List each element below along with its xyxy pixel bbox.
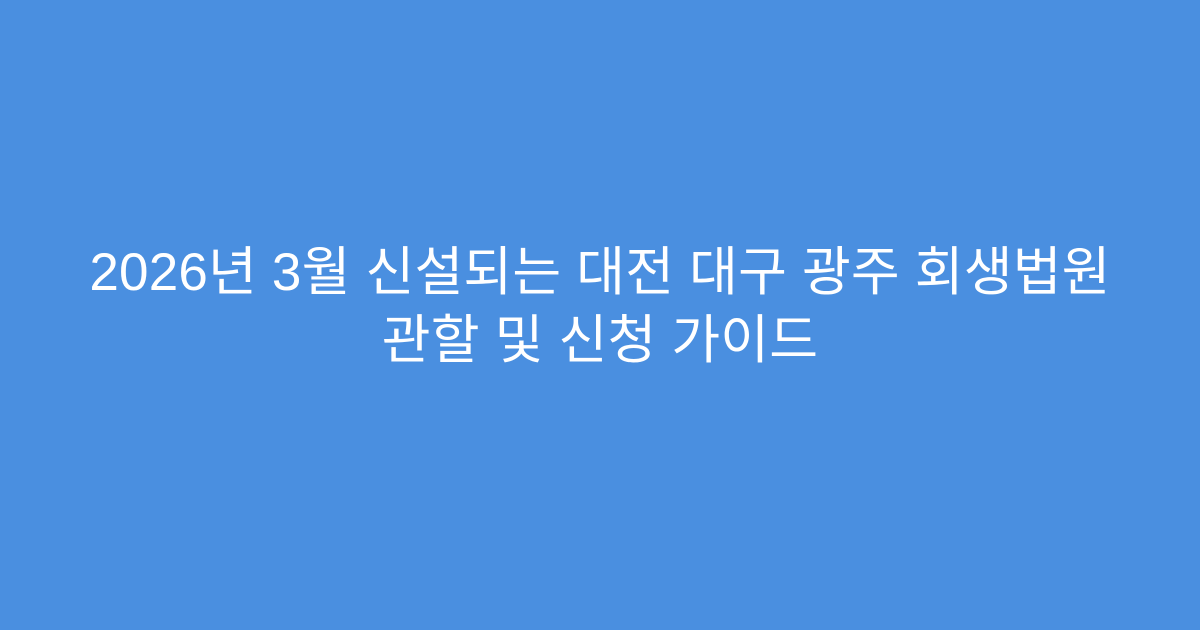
title-card-banner: 2026년 3월 신설되는 대전 대구 광주 회생법원 관할 및 신청 가이드 xyxy=(0,0,1200,630)
page-title: 2026년 3월 신설되는 대전 대구 광주 회생법원 관할 및 신청 가이드 xyxy=(70,239,1130,375)
page-title-line-2: 관할 및 신청 가이드 xyxy=(382,307,818,375)
page-title-line-1: 2026년 3월 신설되는 대전 대구 광주 회생법원 xyxy=(89,239,1110,307)
